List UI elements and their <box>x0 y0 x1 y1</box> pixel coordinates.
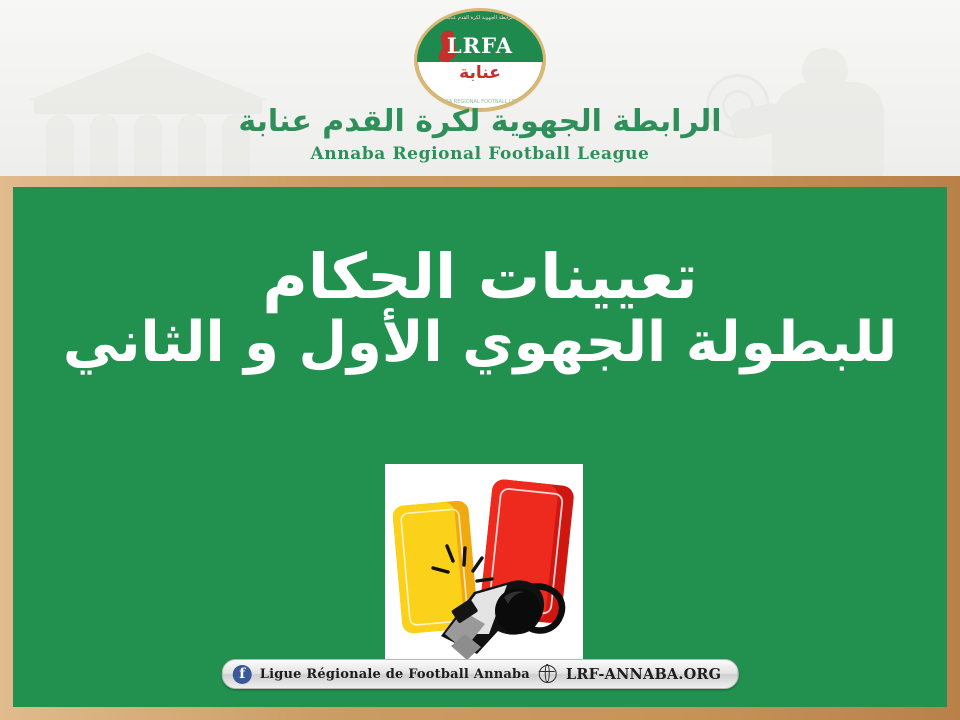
globe-icon <box>539 665 557 683</box>
facebook-icon[interactable]: f <box>233 665 252 684</box>
footer-banner[interactable]: f Ligue Régionale de Football Annaba LRF… <box>222 659 739 689</box>
main-title-line-1: تعيينات الحكام <box>13 245 947 308</box>
crest-top-arc-text: الرابطة الجهوية لكرة القدم عنابة <box>417 15 543 21</box>
footer-page-name: Ligue Régionale de Football Annaba <box>260 667 530 682</box>
crest-city-label: عنابة <box>417 63 543 83</box>
main-title: تعيينات الحكام للبطولة الجهوي الأول و ال… <box>13 245 947 371</box>
referee-cards-whistle-illustration <box>385 464 583 664</box>
gold-frame: تعيينات الحكام للبطولة الجهوي الأول و ال… <box>0 176 960 720</box>
green-board: تعيينات الحكام للبطولة الجهوي الأول و ال… <box>13 187 947 707</box>
main-title-line-2: للبطولة الجهوي الأول و الثاني <box>13 314 947 371</box>
footer-website[interactable]: LRF-ANNABA.ORG <box>566 666 721 683</box>
header-title-arabic: الرابطة الجهوية لكرة القدم عنابة <box>0 104 960 139</box>
header-band: الرابطة الجهوية لكرة القدم عنابة LRFA عن… <box>0 0 960 176</box>
poster-root: الرابطة الجهوية لكرة القدم عنابة LRFA عن… <box>0 0 960 720</box>
header-title-english: Annaba Regional Football League <box>0 144 960 164</box>
crest-monogram: LRFA <box>417 33 543 58</box>
league-crest: الرابطة الجهوية لكرة القدم عنابة LRFA عن… <box>414 8 546 112</box>
